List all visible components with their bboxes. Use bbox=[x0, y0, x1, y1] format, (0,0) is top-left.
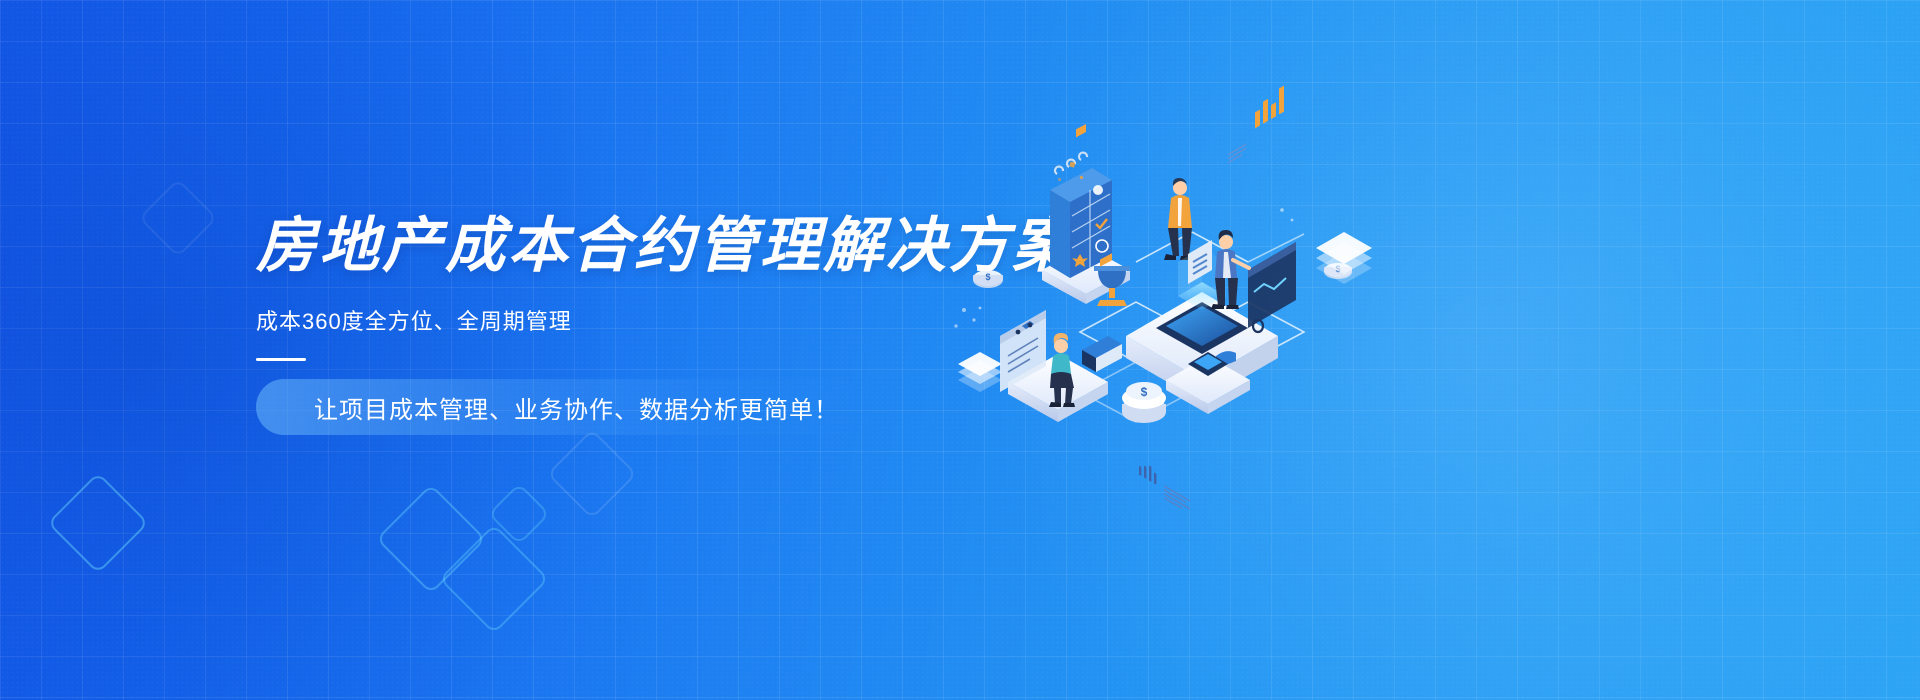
analytics-chart-panel-icon bbox=[1248, 86, 1296, 328]
layer-stack-left-icon bbox=[958, 352, 1002, 392]
title-divider bbox=[256, 358, 306, 361]
decorative-diamond-icon bbox=[138, 178, 217, 257]
currency-coin-stack-icon: $ bbox=[1122, 382, 1166, 423]
person-orange-jacket-icon bbox=[1164, 178, 1192, 260]
svg-text:$: $ bbox=[985, 272, 990, 282]
solution-hero-banner: 房地产成本合约管理解决方案 成本360度全方位、全周期管理 让项目成本管理、业务… bbox=[0, 0, 1920, 700]
decorative-diamond-icon bbox=[439, 524, 549, 634]
decorative-diamond-icon bbox=[376, 484, 486, 594]
svg-text:$: $ bbox=[1141, 385, 1148, 399]
page-title: 房地产成本合约管理解决方案 bbox=[256, 212, 1016, 279]
central-server-hub bbox=[1126, 144, 1278, 510]
hero-illustration: $ $ $ bbox=[930, 150, 1390, 430]
decorative-diamond-icon bbox=[488, 483, 550, 545]
calendar-checklist-icon bbox=[1050, 124, 1112, 278]
layer-stack-right-icon bbox=[1316, 232, 1372, 284]
tagline-text: 让项目成本管理、业务协作、数据分析更简单！ bbox=[314, 390, 839, 425]
currency-coin-left-icon: $ bbox=[973, 270, 1003, 288]
decorative-diamond-icon bbox=[47, 472, 149, 574]
hero-copy-block: 房地产成本合约管理解决方案 成本360度全方位、全周期管理 bbox=[256, 212, 1016, 361]
hero-subtitle: 成本360度全方位、全周期管理 bbox=[256, 304, 1016, 336]
tagline-pill: 让项目成本管理、业务协作、数据分析更简单！ bbox=[256, 379, 865, 435]
decorative-diamond-icon bbox=[547, 429, 638, 520]
